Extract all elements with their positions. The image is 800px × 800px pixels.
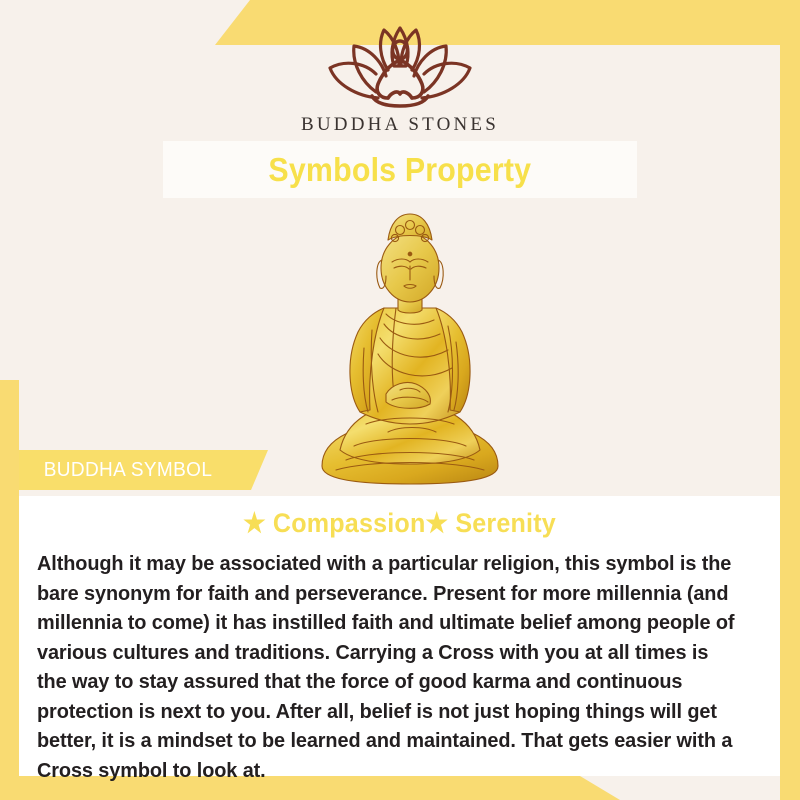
- keywords-line: ★ Compassion★ Serenity: [55, 508, 744, 539]
- page-title-band: Symbols Property: [163, 141, 637, 198]
- body-paragraph: Although it may be associated with a par…: [37, 549, 740, 785]
- ribbon-label: BUDDHA SYMBOL: [19, 459, 212, 482]
- lotus-meditation-icon: [320, 18, 480, 110]
- page-title: Symbols Property: [269, 151, 532, 189]
- hero-buddha-image: [300, 198, 520, 498]
- seated-buddha-icon: [300, 198, 520, 498]
- brand-wordmark: BUDDHA STONES: [0, 114, 800, 136]
- section-ribbon: BUDDHA SYMBOL: [19, 450, 268, 490]
- brand-logo-block: BUDDHA STONES: [0, 18, 800, 136]
- content-panel: ★ Compassion★ Serenity Although it may b…: [19, 496, 780, 776]
- infographic-page: BUDDHA STONES Symbols Property: [0, 0, 800, 800]
- decorative-left-band: [0, 380, 19, 800]
